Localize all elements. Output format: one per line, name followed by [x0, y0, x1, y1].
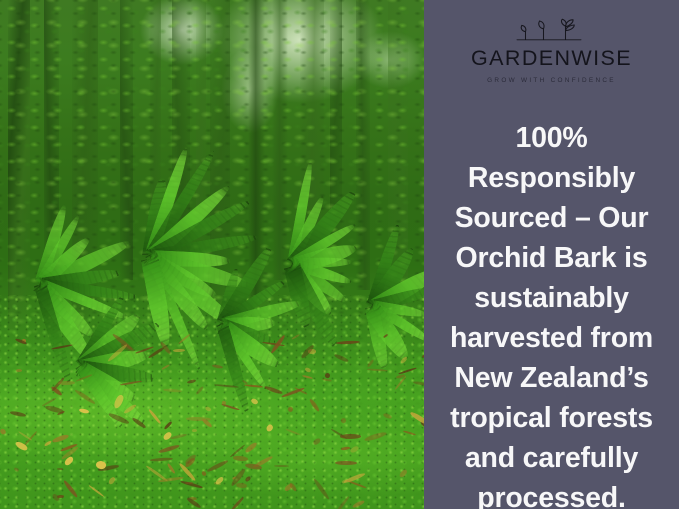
headline-line: 100% [430, 118, 673, 158]
headline-line: processed. [430, 478, 673, 509]
headline-line: sustainably [430, 278, 673, 318]
brand-logo: GARDENWISE GROW WITH CONFIDENCE [424, 18, 679, 84]
headline-line: tropical forests [430, 398, 673, 438]
headline-line: Sourced – Our [430, 198, 673, 238]
three-sprouts-icon [515, 18, 589, 44]
headline-line: and carefully [430, 438, 673, 478]
headline-line: Orchid Bark is [430, 238, 673, 278]
moss-texture [0, 295, 424, 509]
message-panel: GARDENWISE GROW WITH CONFIDENCE 100%Resp… [424, 0, 679, 509]
brand-wordmark: GARDENWISE [424, 48, 679, 70]
forest-photo [0, 0, 424, 509]
product-marketing-banner: GARDENWISE GROW WITH CONFIDENCE 100%Resp… [0, 0, 679, 509]
headline-line: New Zealand’s [430, 358, 673, 398]
headline-line: harvested from [430, 318, 673, 358]
headline-line: Responsibly [430, 158, 673, 198]
headline-message: 100%ResponsiblySourced – OurOrchid Bark … [430, 118, 673, 509]
brand-tagline: GROW WITH CONFIDENCE [424, 77, 679, 84]
